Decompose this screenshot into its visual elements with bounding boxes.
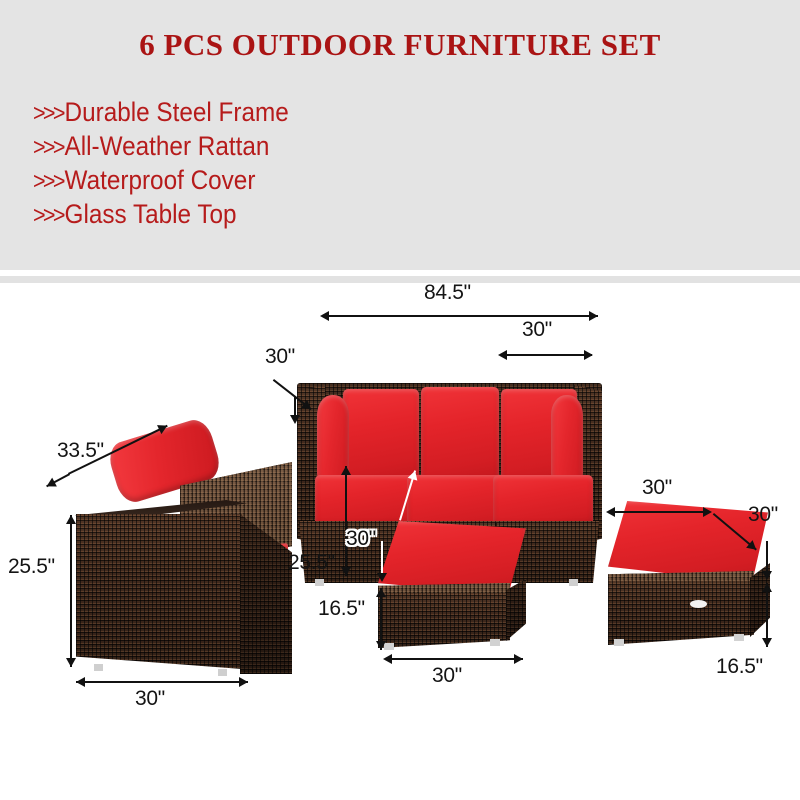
dim-label-center-ottoman-width: 30": [432, 664, 462, 688]
dim-label-sofa-width: 84.5": [424, 281, 471, 305]
dim-line-chair-height: [70, 515, 72, 667]
dim-arrowhead-chair-height-top: [66, 515, 76, 524]
dim-arrowhead-center-ottoman-width-right: [514, 654, 523, 664]
dim-label-side-ottoman-depth: 30": [748, 503, 778, 527]
dim-arrowhead-side-ottoman-height-bottom: [762, 638, 772, 647]
side-ottoman-foot-left: [614, 639, 624, 646]
dim-label-center-ottoman-depth: 30": [346, 527, 376, 551]
furniture-center-ottoman: [378, 521, 526, 653]
side-ottoman-handle-detail: [690, 600, 707, 608]
dim-arrowhead-side-ottoman-width-left: [606, 507, 615, 517]
product-photo: 33.5" 25.5" 30": [0, 283, 800, 800]
chair-foot-right: [218, 669, 227, 676]
dim-arrowhead-chair-width-left: [76, 677, 85, 687]
dim-label-sofa-height: 25.5": [288, 551, 335, 575]
feature-item-1: >>>All-Weather Rattan: [33, 130, 289, 164]
dim-label-center-ottoman-height: 16.5": [318, 597, 365, 621]
sofa-back-cushion-2: [421, 387, 499, 483]
feature-item-2: >>>Waterproof Cover: [33, 164, 289, 198]
dim-arrowhead-sofa-width-right: [589, 311, 598, 321]
feature-bullet-1: >>>: [33, 134, 65, 161]
feature-list: >>>Durable Steel Frame >>>All-Weather Ra…: [33, 96, 317, 232]
side-ottoman-cushion: [608, 501, 768, 583]
dim-arrowhead-sofa-height-top: [341, 466, 351, 475]
dim-label-chair-width: 30": [135, 687, 165, 711]
dim-line-center-ottoman-width: [385, 658, 523, 660]
banner-accent-strip: [0, 276, 800, 283]
feature-item-0: >>>Durable Steel Frame: [33, 96, 289, 130]
dim-arrowhead-center-ottoman-depth: [377, 573, 387, 582]
center-ottoman-foot-right: [490, 639, 500, 646]
dim-arrowhead-chair-height-bottom: [66, 658, 76, 667]
dim-line-sofa-height: [345, 466, 347, 576]
dim-arrowhead-center-ottoman-height-top: [376, 588, 386, 597]
chair-foot-left: [94, 664, 103, 671]
dim-label-sofa-seat-width: 30": [522, 318, 552, 342]
dim-arrowhead-sofa-width-left: [320, 311, 329, 321]
dim-arrowhead-chair-width-right: [239, 677, 248, 687]
dim-label-side-ottoman-width: 30": [642, 476, 672, 500]
dim-arrowhead-center-ottoman-height-bottom: [376, 641, 386, 650]
furniture-side-ottoman: [608, 501, 768, 651]
feature-bullet-3: >>>: [33, 202, 65, 229]
sofa-seat-cushion-3: [493, 475, 593, 527]
dim-arrowhead-center-ottoman-width-left: [383, 654, 392, 664]
feature-bullet-2: >>>: [33, 168, 65, 195]
furniture-corner-chair: [70, 438, 290, 668]
feature-label-1: All-Weather Rattan: [65, 131, 270, 161]
feature-item-3: >>>Glass Table Top: [33, 198, 289, 232]
feature-label-0: Durable Steel Frame: [65, 97, 289, 127]
dim-arrowhead-sofa-seat-width-right: [584, 350, 593, 360]
dim-line-side-ottoman-width: [612, 511, 710, 513]
dim-arrowhead-side-ottoman-width-right: [703, 507, 712, 517]
dim-label-chair-height: 25.5": [8, 555, 55, 579]
dim-label-sofa-depth: 30": [265, 345, 295, 369]
feature-label-2: Waterproof Cover: [65, 165, 256, 195]
feature-label-3: Glass Table Top: [65, 199, 237, 229]
dim-arrow-chair-rim: [47, 475, 70, 487]
dim-arrowhead-sofa-seat-width-left: [498, 350, 507, 360]
dim-arrowhead-side-ottoman-depth: [762, 571, 772, 580]
side-ottoman-foot-right: [734, 634, 744, 641]
sofa-foot-right: [569, 579, 578, 586]
dim-label-side-ottoman-height: 16.5": [716, 655, 763, 679]
dim-line-chair-width: [76, 681, 248, 683]
page-title: 6 PCS OUTDOOR FURNITURE SET: [0, 27, 800, 63]
dim-arrowhead-sofa-height-bottom: [341, 567, 351, 576]
dim-arrowhead-sofa-depth-bottom: [290, 415, 300, 424]
sofa-back-cushion-1: [343, 389, 419, 483]
dim-arrowhead-side-ottoman-height-top: [762, 583, 772, 592]
feature-bullet-0: >>>: [33, 100, 65, 127]
side-ottoman-body: [608, 581, 754, 645]
product-infographic: 6 PCS OUTDOOR FURNITURE SET >>>Durable S…: [0, 0, 800, 800]
dim-line-sofa-width: [322, 315, 598, 317]
chair-front-panel: [76, 514, 242, 669]
dim-line-sofa-seat-width: [500, 354, 592, 356]
sofa-foot-left: [315, 579, 324, 586]
